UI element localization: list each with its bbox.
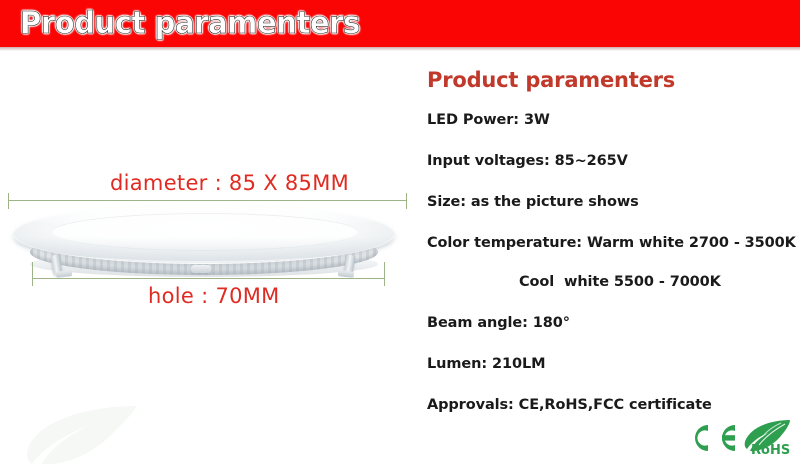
hole-rule-tick-left bbox=[32, 262, 33, 286]
hole-rule-tick-right bbox=[384, 262, 385, 286]
spec-line-size: Size: as the picture shows bbox=[427, 194, 787, 210]
diameter-rule-tick-right bbox=[406, 193, 407, 209]
spec-heading: Product paramenters bbox=[427, 68, 787, 92]
spec-line-input-voltages: Input voltages: 85~265V bbox=[427, 153, 787, 169]
mounting-clip-center bbox=[191, 265, 211, 273]
header-title: Product paramenters bbox=[20, 6, 360, 41]
rohs-label: RoHS bbox=[751, 443, 790, 457]
ce-mark-icon bbox=[686, 421, 736, 455]
panel-diffuser-inner-ring bbox=[52, 213, 358, 251]
spec-line-color-temperature: Color temperature: Warm white 2700 - 350… bbox=[427, 235, 787, 251]
specifications-panel: Product paramenters LED Power: 3W Input … bbox=[427, 68, 787, 438]
hole-rule-line bbox=[32, 278, 385, 279]
spec-line-lumen: Lumen: 210LM bbox=[427, 356, 787, 372]
mounting-clip-foot-right bbox=[338, 270, 355, 278]
product-illustration-pane: diameter : 85 X 85MM hole : 70MM bbox=[0, 47, 412, 466]
spec-line-led-power: LED Power: 3W bbox=[427, 112, 787, 128]
certification-marks: RoHS bbox=[686, 419, 790, 459]
mounting-clip-foot-left bbox=[56, 270, 73, 278]
spec-line-beam-angle: Beam angle: 180° bbox=[427, 315, 787, 331]
panel-diffuser-disc bbox=[14, 205, 394, 263]
spec-line-color-temperature-cool: Cool white 5500 - 7000K bbox=[519, 274, 787, 290]
rohs-leaf-icon: RoHS bbox=[738, 419, 792, 457]
product-spec-image: Product paramenters diameter : 85 X 85MM bbox=[0, 0, 800, 466]
spec-line-approvals: Approvals: CE,RoHS,FCC certificate bbox=[427, 397, 787, 413]
hole-label: hole : 70MM bbox=[148, 284, 280, 308]
diameter-label: diameter : 85 X 85MM bbox=[110, 171, 349, 195]
